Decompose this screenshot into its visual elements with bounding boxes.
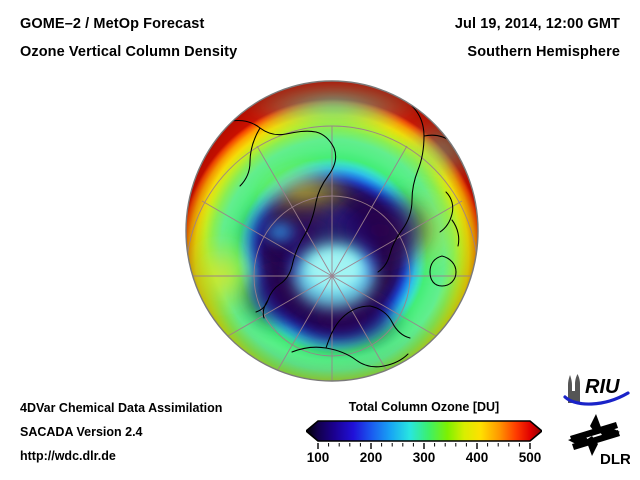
figure-title-left: GOME–2 / MetOp Forecast [20, 16, 204, 32]
ozone-map-figure: GOME–2 / MetOp Forecast Ozone Vertical C… [0, 0, 640, 480]
colorbar-tick-label: 100 [307, 450, 330, 465]
figure-hemisphere: Southern Hemisphere [467, 44, 620, 60]
figure-subtitle-left: Ozone Vertical Column Density [20, 44, 237, 60]
colorbar-title: Total Column Ozone [DU] [318, 400, 530, 414]
dlr-logo-text: DLR [600, 451, 630, 468]
dlr-logo: DLR [566, 412, 630, 468]
figure-timestamp: Jul 19, 2014, 12:00 GMT [455, 16, 620, 32]
riu-logo-text: RIU [585, 376, 620, 398]
footer-line-url[interactable]: http://wdc.dlr.de [20, 449, 116, 463]
colorbar-tick-label: 300 [413, 450, 436, 465]
footer-line-version: SACADA Version 2.4 [20, 425, 143, 439]
colorbar-tick-labels: 100200300400500 [306, 450, 542, 470]
colorbar-gradient [306, 421, 542, 441]
footer-line-assimilation: 4DVar Chemical Data Assimilation [20, 401, 222, 415]
colorbar [306, 419, 542, 443]
dlr-pinwheel-icon [568, 414, 620, 456]
colorbar-tick-label: 500 [519, 450, 542, 465]
riu-logo: RIU [560, 371, 632, 407]
orthographic-globe-plot [184, 80, 480, 383]
colorbar-tick-label: 200 [360, 450, 383, 465]
colorbar-tick-label: 400 [466, 450, 489, 465]
